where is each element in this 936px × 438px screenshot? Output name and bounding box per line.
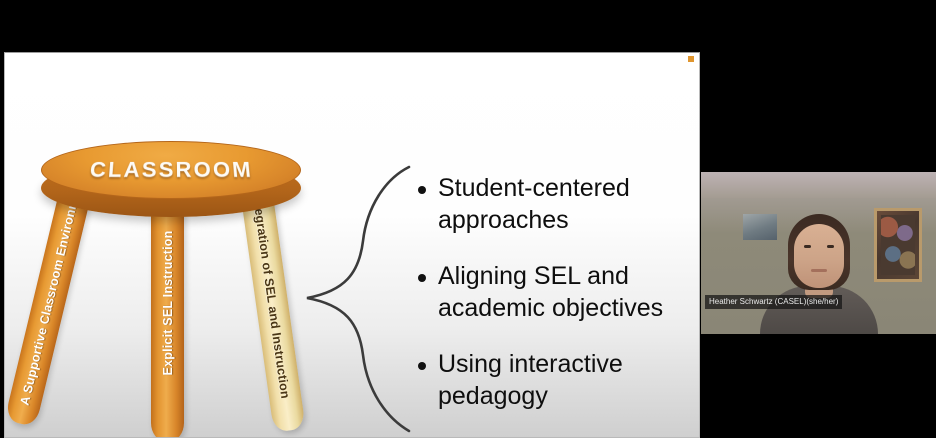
stool-leg-label: Integration of SEL and Instruction — [250, 192, 293, 400]
stool-seat-label-wrap: CLASSROOM — [41, 141, 301, 199]
avatar-face — [794, 224, 844, 288]
avatar-eye-left — [804, 245, 811, 248]
list-item: Student-centered approaches — [418, 173, 698, 236]
curly-brace-icon — [293, 163, 413, 435]
participant-name-badge: Heather Schwartz (CASEL)(she/her) — [705, 295, 842, 309]
meeting-stage: A Supportive Classroom Environment Expli… — [0, 0, 936, 438]
video-background-wall — [701, 172, 936, 198]
video-background-photo-collage — [874, 208, 922, 283]
avatar-mouth — [811, 269, 827, 272]
bullet-text: Using interactive pedagogy — [438, 349, 698, 412]
avatar-eye-right — [827, 245, 834, 248]
stool-seat: CLASSROOM — [41, 141, 301, 219]
slide-bullet-list: Student-centered approaches Aligning SEL… — [418, 173, 698, 437]
shared-slide[interactable]: A Supportive Classroom Environment Expli… — [4, 52, 700, 438]
stool-leg-label: Explicit SEL Instruction — [161, 231, 175, 376]
bullet-dot-icon — [418, 274, 426, 282]
bullet-dot-icon — [418, 362, 426, 370]
bullet-dot-icon — [418, 186, 426, 194]
stool-seat-label: CLASSROOM — [88, 158, 254, 183]
avatar — [760, 214, 878, 334]
list-item: Using interactive pedagogy — [418, 349, 698, 412]
list-item: Aligning SEL and academic objectives — [418, 261, 698, 324]
bullet-text: Aligning SEL and academic objectives — [438, 261, 698, 324]
slide-accent-marker — [688, 56, 694, 62]
bullet-text: Student-centered approaches — [438, 173, 698, 236]
participant-video-tile[interactable]: Heather Schwartz (CASEL)(she/her) — [701, 172, 936, 334]
